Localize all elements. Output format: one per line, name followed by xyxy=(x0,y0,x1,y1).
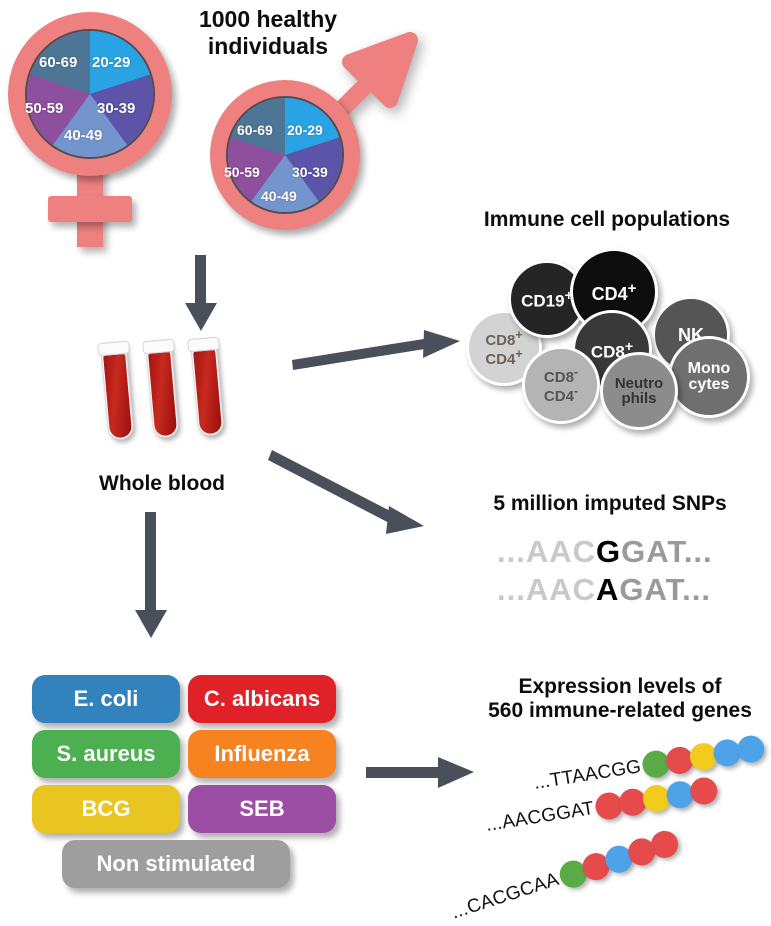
strand-sequence: ...CACGCAA xyxy=(449,868,562,923)
stimulation-label: BCG xyxy=(82,796,131,822)
stimulation-label: Non stimulated xyxy=(97,851,256,877)
arrow-blood-to-snps xyxy=(272,450,442,550)
male-seg-label-50-59: 50-59 xyxy=(224,164,260,180)
stimulation-label: SEB xyxy=(239,796,284,822)
female-crossbar xyxy=(48,196,132,222)
immune-cell-cd8n-cd4n: CD8-CD4- xyxy=(522,346,600,424)
diagram-canvas: 1000 healthy individuals 20-29 30-39 40-… xyxy=(0,0,771,922)
snps-title: 5 million imputed SNPs xyxy=(460,492,760,516)
stimulation-non-stimulated[interactable]: Non stimulated xyxy=(62,840,290,888)
male-seg-label-20-29: 20-29 xyxy=(287,122,323,138)
strand-sequence: ...AACGGAT xyxy=(484,798,595,837)
arrow-cohort-to-blood xyxy=(181,255,221,335)
stimulation-e-coli[interactable]: E. coli xyxy=(32,675,180,723)
female-seg-label-30-39: 30-39 xyxy=(97,100,135,117)
blood-tube xyxy=(100,341,134,441)
tube-neck xyxy=(187,337,220,353)
female-seg-label-50-59: 50-59 xyxy=(25,100,63,117)
snp-prefix: ...AAC xyxy=(497,534,596,569)
whole-blood-label: Whole blood xyxy=(82,472,242,496)
immune-cell-label: CD8+CD4+ xyxy=(485,329,522,368)
immune-title: Immune cell populations xyxy=(452,208,762,232)
female-seg-label-20-29: 20-29 xyxy=(92,54,130,71)
female-seg-label-40-49: 40-49 xyxy=(64,127,102,144)
tube-neck xyxy=(142,339,175,355)
snp-sequence-row: ...AACGGAT... xyxy=(497,534,713,570)
male-seg-label-40-49: 40-49 xyxy=(261,188,297,204)
stimulation-bcg[interactable]: BCG xyxy=(32,785,180,833)
snp-suffix: GAT... xyxy=(621,534,713,569)
strand-bead xyxy=(689,776,720,807)
expression-title-line1: Expression levels of xyxy=(472,675,768,699)
snp-variant: A xyxy=(596,572,619,607)
immune-cell-label: CD4+ xyxy=(592,281,637,303)
arrow-blood-to-stimulations xyxy=(131,512,171,642)
female-seg-label-60-69: 60-69 xyxy=(39,54,77,71)
snp-suffix: GAT... xyxy=(619,572,711,607)
expression-title: Expression levels of 560 immune-related … xyxy=(472,675,768,724)
arrow-stimulations-to-expression xyxy=(366,755,476,795)
blood-tube xyxy=(145,339,179,439)
immune-cell-monocytes: Monocytes xyxy=(668,336,750,418)
male-seg-label-30-39: 30-39 xyxy=(292,164,328,180)
expression-strand: ...CACGCAA xyxy=(448,827,682,926)
snp-prefix: ...AAC xyxy=(497,572,596,607)
stimulation-label: C. albicans xyxy=(204,686,320,712)
stimulation-influenza[interactable]: Influenza xyxy=(188,730,336,778)
snp-sequence-row: ...AACAGAT... xyxy=(497,572,711,608)
blood-tube xyxy=(190,337,224,437)
arrow-blood-to-immune xyxy=(292,330,462,374)
immune-cell-label: Monocytes xyxy=(688,361,731,394)
immune-cell-label: Neutrophils xyxy=(615,376,663,407)
immune-cell-neutrophils: Neutrophils xyxy=(600,352,678,430)
immune-cell-label: CD19+ xyxy=(521,289,573,310)
expression-title-line2: 560 immune-related genes xyxy=(472,699,768,723)
immune-cell-label: CD8-CD4- xyxy=(544,366,578,405)
stimulation-label: E. coli xyxy=(74,686,139,712)
stimulation-c-albicans[interactable]: C. albicans xyxy=(188,675,336,723)
stimulation-seb[interactable]: SEB xyxy=(188,785,336,833)
tube-neck xyxy=(97,341,130,357)
strand-bead xyxy=(736,734,767,765)
stimulation-s-aureus[interactable]: S. aureus xyxy=(32,730,180,778)
stimulation-label: Influenza xyxy=(214,741,309,767)
male-seg-label-60-69: 60-69 xyxy=(237,122,273,138)
stimulation-label: S. aureus xyxy=(56,741,155,767)
snp-variant: G xyxy=(596,534,621,569)
